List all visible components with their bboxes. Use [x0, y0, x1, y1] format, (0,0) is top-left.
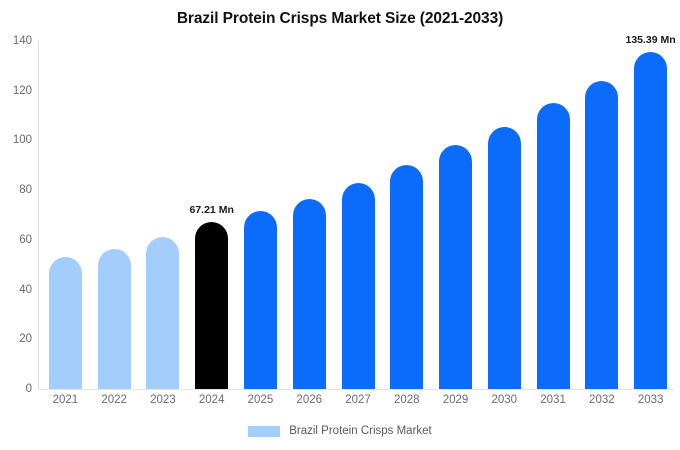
bar-2032[interactable]	[585, 81, 618, 389]
bar-2024[interactable]	[195, 222, 228, 389]
bar-2033[interactable]	[634, 52, 667, 389]
bar-2026[interactable]	[293, 199, 326, 389]
bar-chart: Brazil Protein Crisps Market Size (2021-…	[0, 0, 680, 450]
y-axis-tick-40: 40	[0, 284, 32, 296]
y-axis-tick-60: 60	[0, 234, 32, 246]
bar-value-label-2024: 67.21 Mn	[167, 204, 257, 216]
legend-label-brazil-protein-crisps-market: Brazil Protein Crisps Market	[289, 425, 432, 437]
legend-swatch-brazil-protein-crisps-market	[248, 426, 280, 437]
bar-2021[interactable]	[49, 257, 82, 389]
bar-2030[interactable]	[488, 127, 521, 389]
bar-2031[interactable]	[537, 103, 570, 389]
y-axis-tick-0: 0	[0, 383, 32, 395]
bar-value-label-2033: 135.39 Mn	[606, 34, 680, 46]
chart-legend: Brazil Protein Crisps Market	[0, 425, 680, 437]
y-axis-tick-labels: 020406080100120140	[0, 0, 32, 450]
y-axis-tick-140: 140	[0, 35, 32, 47]
bar-2022[interactable]	[98, 249, 131, 389]
y-axis-tick-80: 80	[0, 184, 32, 196]
y-axis-tick-120: 120	[0, 85, 32, 97]
plot-area	[38, 41, 672, 389]
bar-2029[interactable]	[439, 145, 472, 389]
bar-2027[interactable]	[342, 183, 375, 389]
x-axis-line	[38, 389, 674, 390]
x-axis-tick-2033: 2033	[621, 394, 680, 406]
bar-2023[interactable]	[146, 237, 179, 389]
bar-2028[interactable]	[390, 165, 423, 389]
chart-title: Brazil Protein Crisps Market Size (2021-…	[0, 10, 680, 28]
y-axis-tick-100: 100	[0, 134, 32, 146]
bar-2025[interactable]	[244, 211, 277, 389]
y-axis-tick-20: 20	[0, 333, 32, 345]
